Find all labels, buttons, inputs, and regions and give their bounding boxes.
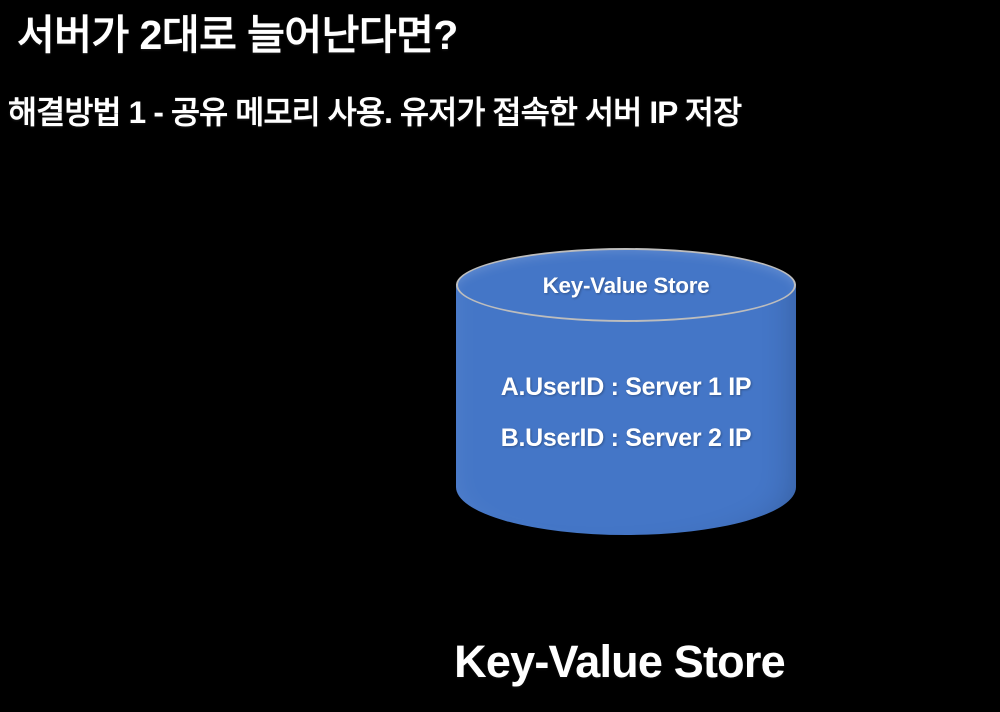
- cylinder-entry-list: A.UserID : Server 1 IP B.UserID : Server…: [456, 373, 796, 453]
- slide-title: 서버가 2대로 늘어난다면?: [17, 12, 977, 59]
- cylinder-entry-a: A.UserID : Server 1 IP: [501, 373, 751, 402]
- cylinder-entry-b: B.UserID : Server 2 IP: [501, 424, 751, 453]
- cylinder-top-label: Key-Value Store: [456, 273, 796, 299]
- slide-canvas: 서버가 2대로 늘어난다면? 해결방법 1 - 공유 메모리 사용. 유저가 접…: [0, 0, 1000, 712]
- key-value-store-cylinder: Key-Value Store A.UserID : Server 1 IP B…: [456, 248, 796, 535]
- diagram-caption: Key-Value Store: [0, 636, 1000, 688]
- slide-subtitle: 해결방법 1 - 공유 메모리 사용. 유저가 접속한 서버 IP 저장: [8, 94, 998, 132]
